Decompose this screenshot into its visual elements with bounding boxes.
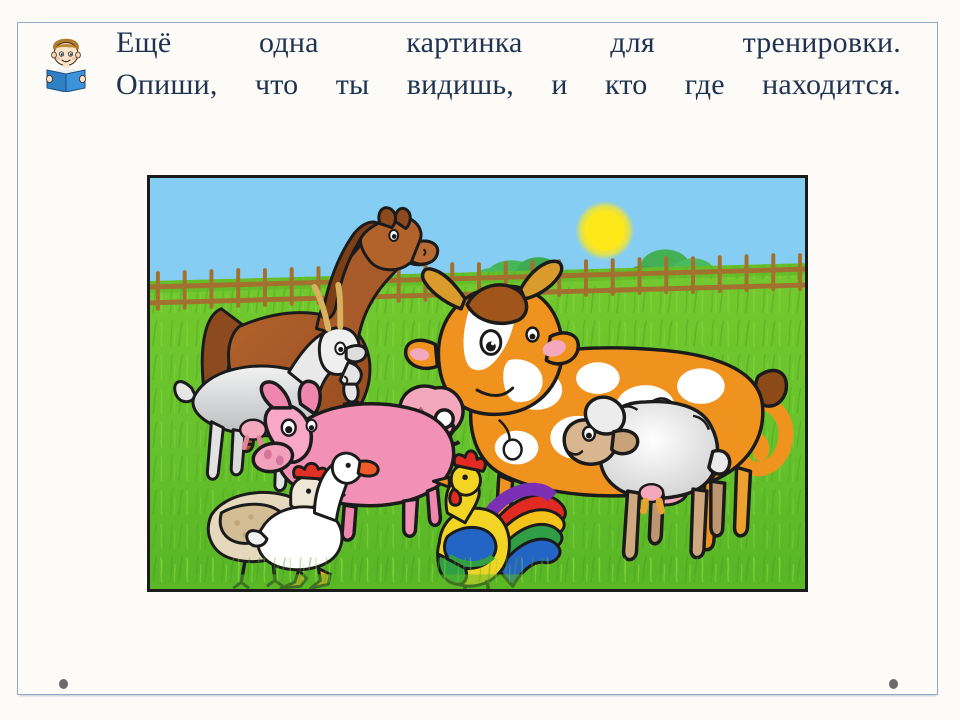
prompt-word: ты (336, 64, 370, 106)
sun-icon (575, 201, 634, 260)
hen-eye (306, 489, 311, 494)
goose-eye (346, 463, 351, 468)
prompt-word: кто (605, 64, 648, 106)
prompt-word: для (610, 22, 655, 64)
boy-reading-book-icon (44, 30, 88, 92)
goat-eye (335, 342, 345, 354)
rooster-eye (462, 474, 468, 480)
prompt-word: где (685, 64, 725, 106)
prompt-word: видишь, (407, 64, 514, 106)
bullet-dot-right (889, 679, 898, 689)
prompt-word: тренировки. (743, 22, 901, 64)
prompt-word: Ещё (116, 22, 171, 64)
horse-eye (389, 230, 398, 241)
prompt-word: Опиши, (116, 64, 218, 106)
prompt-line-1: Ещё одна картинка для тренировки. (116, 22, 901, 64)
prompt-word: что (255, 64, 298, 106)
slide-canvas: Ещё одна картинка для тренировки. Опиши,… (0, 0, 960, 720)
prompt-word: картинка (406, 22, 522, 64)
prompt-word: находится. (762, 64, 901, 106)
bullet-dot-left (59, 679, 68, 689)
prompt-word: и (551, 64, 567, 106)
prompt-line-2: Опиши, что ты видишь, и кто где находитс… (116, 64, 901, 106)
prompt-word: одна (259, 22, 319, 64)
farm-scene-svg (150, 178, 805, 591)
farm-animals-illustration (147, 175, 808, 592)
prompt-text: Ещё одна картинка для тренировки. Опиши,… (116, 22, 901, 106)
prompt-row: Ещё одна картинка для тренировки. Опиши,… (18, 10, 898, 110)
